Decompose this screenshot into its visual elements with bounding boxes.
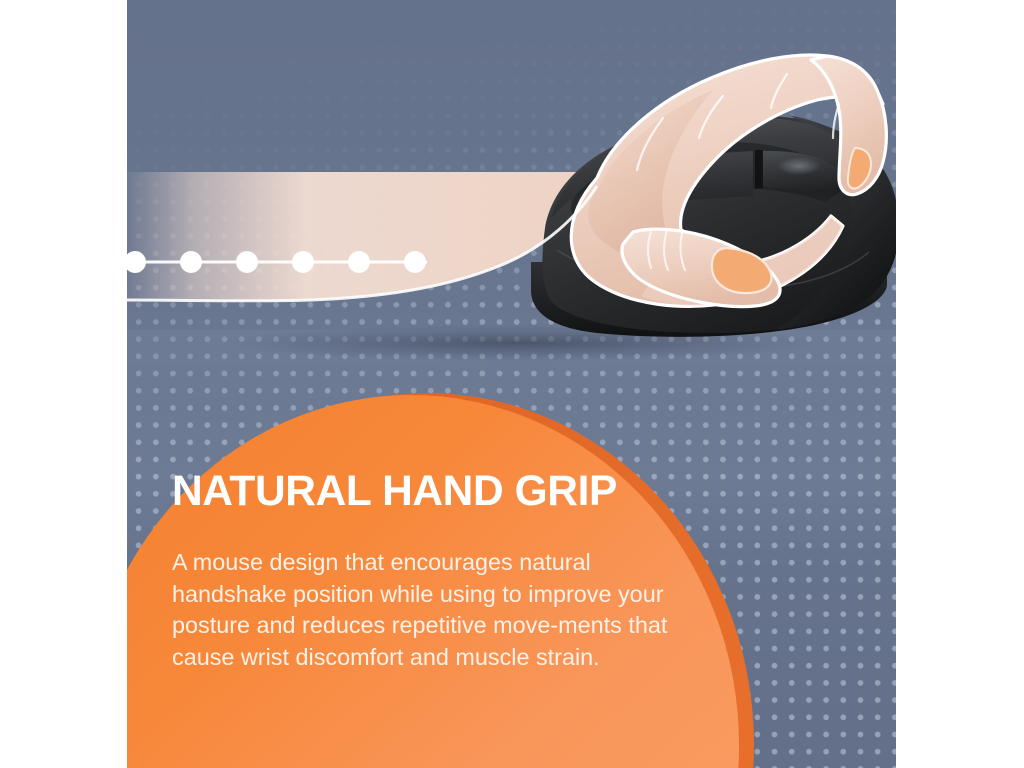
alignment-dot: [292, 251, 314, 273]
button-gloss: [777, 157, 821, 175]
product-feature-card-page: NATURAL HAND GRIP A mouse design that en…: [0, 0, 1024, 768]
product-feature-card: NATURAL HAND GRIP A mouse design that en…: [127, 0, 896, 768]
alignment-dot: [404, 251, 426, 273]
button-divider: [755, 150, 763, 189]
hand-and-mouse-illustration: [127, 0, 896, 420]
alignment-dot: [236, 251, 258, 273]
alignment-dot: [348, 251, 370, 273]
alignment-dot: [180, 251, 202, 273]
forearm: [127, 172, 597, 301]
copy-block: NATURAL HAND GRIP A mouse design that en…: [172, 470, 702, 673]
body-paragraph: A mouse design that encourages natural h…: [172, 547, 677, 673]
page-title: NATURAL HAND GRIP: [172, 470, 702, 513]
